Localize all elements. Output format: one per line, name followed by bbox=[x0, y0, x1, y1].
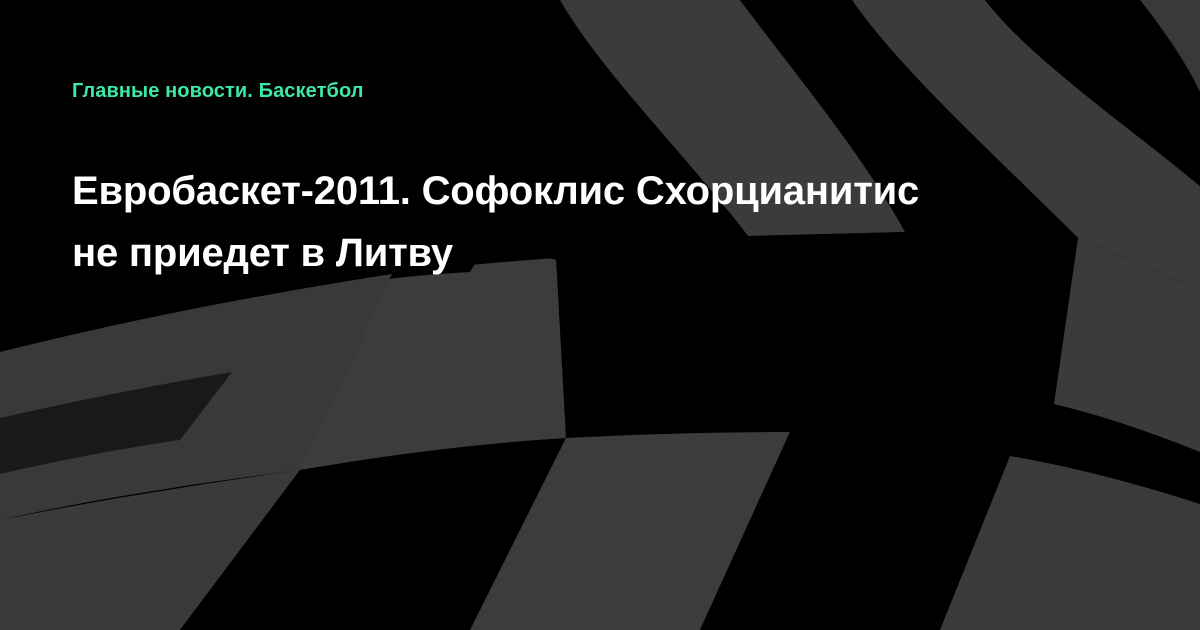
news-share-card: Главные новости. Баскетбол Евробаскет-20… bbox=[0, 0, 1200, 630]
text-content: Главные новости. Баскетбол Евробаскет-20… bbox=[72, 0, 972, 630]
kicker-label[interactable]: Главные новости. Баскетбол bbox=[72, 78, 364, 104]
page-title: Евробаскет-2011. Софоклис Схорцианитис н… bbox=[72, 160, 952, 284]
